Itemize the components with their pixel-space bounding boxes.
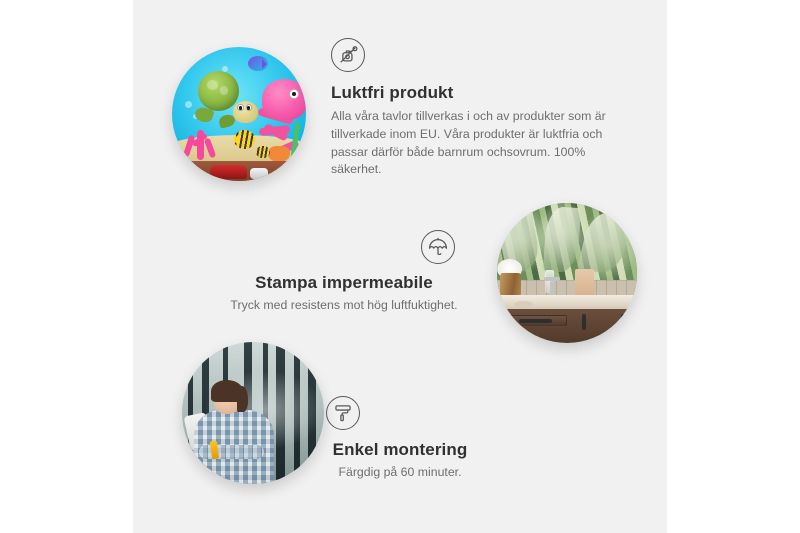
installer-person [191, 382, 276, 484]
product-image-aquarium[interactable] [172, 47, 306, 181]
hair [237, 386, 249, 413]
octopus-eye [289, 89, 299, 100]
bubble-icon [185, 101, 192, 108]
blue-fish [248, 56, 268, 71]
drawer-handle [519, 319, 552, 323]
product-feature-banner: Luktfri produkt Alla våra tavlor tillver… [0, 0, 800, 533]
turtle-eye [237, 104, 243, 111]
turtle-shell [198, 71, 239, 111]
toy-object [250, 168, 269, 179]
feature-description: Färgdig på 60 minuter. [300, 464, 500, 482]
feature-easy-install: Enkel montering Färgdig på 60 minuter. [300, 396, 500, 482]
umbrella-icon [421, 230, 455, 264]
yellow-fish [234, 130, 255, 149]
feature-title: Enkel montering [300, 440, 500, 460]
cabinet-handle [621, 314, 625, 329]
feature-description: Alla våra tavlor tillverkas i och av pro… [331, 108, 623, 179]
leaf-motif [542, 206, 580, 273]
octopus-head [262, 79, 306, 119]
no-fragrance-spray-icon [331, 38, 365, 72]
feature-title: Luktfri produkt [331, 83, 631, 103]
feature-title: Stampa impermeabile [215, 273, 473, 293]
coral-branch [204, 138, 216, 159]
cabinet-handle [582, 314, 586, 329]
small-yellow-fish [256, 146, 269, 158]
paint-roller-icon [326, 396, 360, 430]
product-image-bathroom[interactable] [497, 203, 637, 343]
toy-car [210, 165, 248, 179]
aquarium-floor [172, 161, 306, 181]
folded-arms [199, 445, 264, 459]
feature-waterproof: Stampa impermeabile Tryck med resistens … [215, 230, 473, 315]
feature-odourless: Luktfri produkt Alla våra tavlor tillver… [331, 38, 631, 179]
coral-illustration [179, 117, 222, 160]
vanity-cabinet [497, 309, 637, 343]
leaf-motif [577, 208, 633, 277]
feature-description: Tryck med resistens mot hög luftfuktighe… [215, 297, 473, 315]
